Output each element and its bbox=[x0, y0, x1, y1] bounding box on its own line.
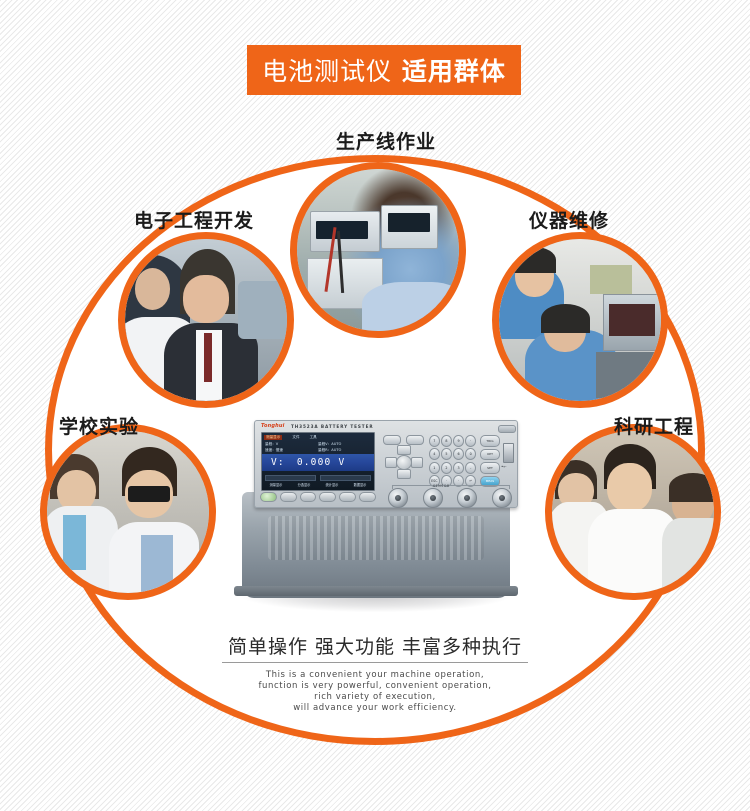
photo-electronic-engineering bbox=[125, 239, 287, 401]
english-line-1: This is a convenient your machine operat… bbox=[225, 670, 525, 681]
lcd-bargraph-right bbox=[320, 475, 371, 481]
trigger-button[interactable]: TRIG bbox=[480, 435, 500, 447]
device-softkey-row bbox=[260, 492, 376, 502]
photo-circle-research-engineering[interactable] bbox=[545, 424, 721, 600]
device-front-panel: Tonghui TH3523A BATTERY TESTER 测量显示 文件 工… bbox=[254, 420, 518, 508]
lcd-primary-reading: V: 0.000 V bbox=[262, 454, 374, 471]
usb-icon: •← bbox=[501, 464, 507, 469]
keypad-key[interactable]: 1 bbox=[429, 462, 440, 474]
bnc-terminal-ld[interactable] bbox=[492, 488, 512, 508]
label-electronic-engineering: 电子工程开发 bbox=[134, 206, 254, 233]
photo-circle-electronic-engineering[interactable] bbox=[118, 232, 294, 408]
lcd-row-range-v: 量程：V bbox=[265, 442, 278, 447]
lcd-row-range-r-val: 量程R：AUTO bbox=[318, 448, 341, 453]
usb-port[interactable] bbox=[503, 443, 514, 463]
lcd-row-speed: 速度：慢速 bbox=[265, 448, 283, 453]
lcd-bargraph-left bbox=[265, 475, 316, 481]
arrow-right-icon[interactable] bbox=[411, 457, 423, 468]
bnc-terminal-hs[interactable] bbox=[423, 488, 443, 508]
bnc-terminal-hd[interactable] bbox=[388, 488, 408, 508]
photo-production-line bbox=[297, 169, 459, 331]
lcd-softkey-4: 数据显示 bbox=[346, 482, 374, 490]
lcd-reading-value: 0.000 bbox=[297, 457, 332, 468]
keypad-key[interactable]: 9 bbox=[453, 435, 464, 447]
bnc-terminal-ls[interactable] bbox=[457, 488, 477, 508]
softkey-button-2[interactable] bbox=[300, 492, 317, 502]
softkey-button-1[interactable] bbox=[280, 492, 297, 502]
lcd-bargraphs bbox=[265, 474, 371, 481]
photo-instrument-repair bbox=[499, 239, 661, 401]
tagline-divider bbox=[222, 662, 528, 663]
lcd-screen[interactable]: 测量显示 文件 工具 量程：V 量程V：AUTO 速度：慢速 量程R：AUTO … bbox=[261, 432, 375, 491]
page-title-part2: 适用群体 bbox=[402, 57, 506, 86]
setup-button[interactable]: SET bbox=[480, 462, 500, 474]
lcd-reading-label: V: bbox=[271, 457, 285, 468]
lcd-softkey-labels: 测量显示 分选显示 统计显示 数据显示 bbox=[262, 482, 374, 490]
keypad-key[interactable]: 2 bbox=[441, 462, 452, 474]
arrow-down-icon[interactable] bbox=[397, 469, 411, 479]
softkey-button-4[interactable] bbox=[339, 492, 356, 502]
bnc-terminals bbox=[388, 488, 512, 506]
keypad-key[interactable]: · bbox=[465, 435, 476, 447]
english-line-4: will advance your work efficiency. bbox=[225, 703, 525, 714]
numeric-keypad: 7 8 9 · 4 5 6 0 1 2 3 - ESC · · ↵ bbox=[429, 435, 476, 487]
english-description: This is a convenient your machine operat… bbox=[225, 670, 525, 714]
title-banner: 电池测试仪 适用群体 bbox=[247, 45, 521, 95]
lcd-softkey-2: 分选显示 bbox=[290, 482, 318, 490]
label-school-lab: 学校实验 bbox=[59, 412, 139, 439]
label-production-line: 生产线作业 bbox=[336, 127, 436, 154]
label-research-engineering: 科研工程 bbox=[614, 412, 694, 439]
nav-top-right-button[interactable] bbox=[406, 435, 424, 445]
keypad-key[interactable]: 0 bbox=[465, 448, 476, 460]
keypad-key[interactable]: 5 bbox=[441, 448, 452, 460]
lcd-menu-tools: 工具 bbox=[310, 435, 317, 440]
softkey-button-3[interactable] bbox=[319, 492, 336, 502]
enter-button[interactable] bbox=[396, 455, 412, 470]
english-line-2: function is very powerful, convenient op… bbox=[225, 681, 525, 692]
photo-circle-instrument-repair[interactable] bbox=[492, 232, 668, 408]
label-instrument-repair: 仪器维修 bbox=[529, 206, 609, 233]
keypad-key[interactable]: 3 bbox=[453, 462, 464, 474]
lcd-softkey-1: 测量显示 bbox=[262, 482, 290, 490]
brand-logo: Tonghui bbox=[261, 423, 285, 429]
navigation-pad bbox=[383, 435, 423, 485]
nav-top-left-button[interactable] bbox=[383, 435, 401, 445]
keypad-key[interactable]: 8 bbox=[441, 435, 452, 447]
lcd-title-highlight: 测量显示 bbox=[264, 435, 282, 440]
photo-school-lab bbox=[47, 431, 209, 593]
function-key-column: TRIG OPT SET MEAS bbox=[480, 435, 500, 487]
softkey-button-5[interactable] bbox=[359, 492, 376, 502]
english-line-3: rich variety of execution, bbox=[225, 692, 525, 703]
keypad-key[interactable]: 4 bbox=[429, 448, 440, 460]
tagline: 简单操作 强大功能 丰富多种执行 bbox=[225, 632, 525, 659]
battery-tester-device: Tonghui TH3523A BATTERY TESTER 测量显示 文件 工… bbox=[228, 400, 523, 625]
photo-research-engineering bbox=[552, 431, 714, 593]
keypad-key[interactable]: 6 bbox=[453, 448, 464, 460]
device-feet bbox=[234, 586, 518, 596]
speaker-grille bbox=[498, 425, 516, 433]
lcd-softkey-3: 统计显示 bbox=[318, 482, 346, 490]
page-title-part1: 电池测试仪 bbox=[262, 57, 392, 86]
lcd-menu-file: 文件 bbox=[292, 435, 299, 440]
lcd-reading-unit: V bbox=[338, 457, 345, 468]
power-button[interactable] bbox=[260, 492, 277, 502]
model-text: TH3523A BATTERY TESTER bbox=[291, 424, 373, 429]
arrow-up-icon[interactable] bbox=[397, 445, 411, 455]
lcd-title-bar: 测量显示 文件 工具 bbox=[264, 434, 372, 440]
keypad-key[interactable]: 7 bbox=[429, 435, 440, 447]
option-button[interactable]: OPT bbox=[480, 449, 500, 461]
photo-circle-production-line[interactable] bbox=[290, 162, 466, 338]
photo-circle-school-lab[interactable] bbox=[40, 424, 216, 600]
keypad-key[interactable]: - bbox=[465, 462, 476, 474]
page-title: 电池测试仪 适用群体 bbox=[262, 52, 506, 88]
lcd-row-range-v-val: 量程V：AUTO bbox=[318, 442, 341, 447]
